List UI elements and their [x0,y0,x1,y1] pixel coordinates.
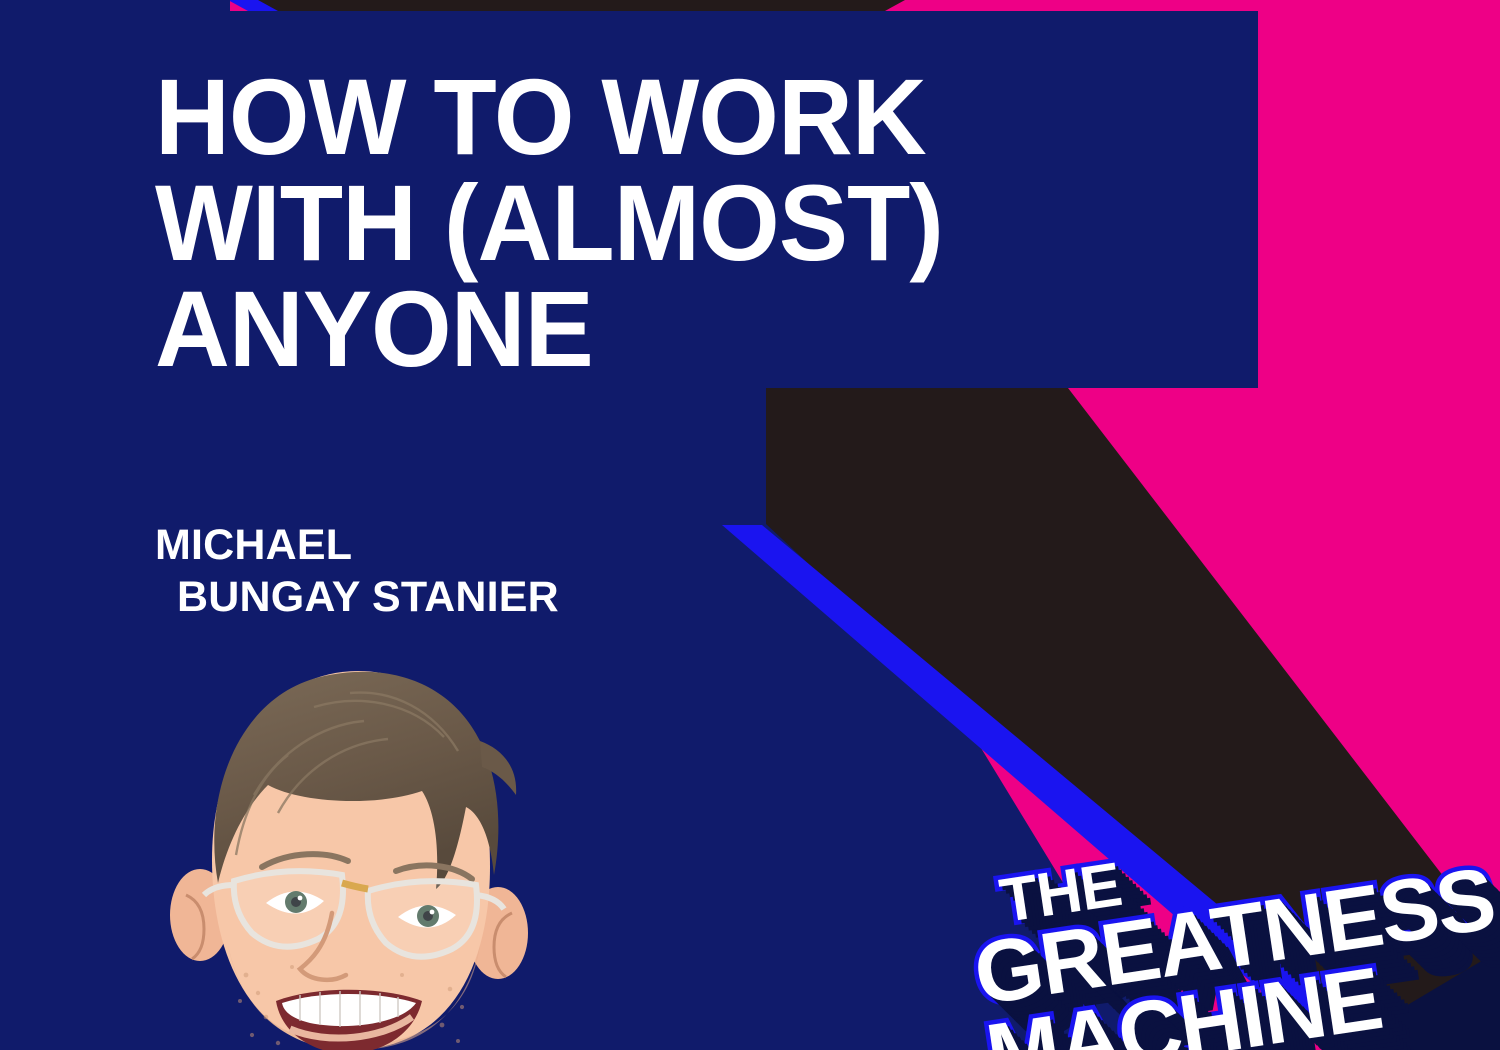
podcast-logo: THE GREATNESS MACHINE [955,880,1500,1050]
episode-title: HOW TO WORK WITH (ALMOST) ANYONE [155,64,1215,381]
title-line-3: ANYONE [155,276,1173,382]
speaker-first-name: MICHAEL [155,519,559,571]
speaker-name: MICHAEL BUNGAY STANIER [155,519,559,624]
podcast-episode-poster: HOW TO WORK WITH (ALMOST) ANYONE MICHAEL… [0,0,1500,1050]
title-line-2: WITH (ALMOST) [155,170,1173,276]
speaker-last-name: BUNGAY STANIER [155,571,559,623]
title-line-1: HOW TO WORK [155,64,1173,170]
top-strip-navy-left [0,0,230,11]
speaker-portrait-illustration [150,645,550,1050]
top-strip-dark [232,0,905,11]
portrait-body [170,671,528,1050]
